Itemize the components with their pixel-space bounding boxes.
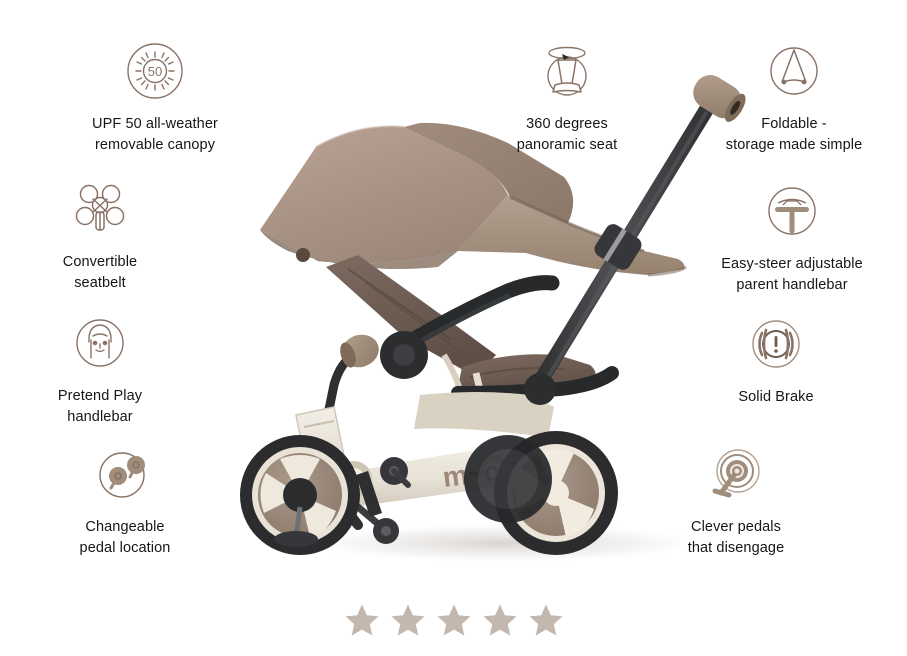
feature-solid-brake: Solid Brake bbox=[676, 313, 876, 408]
feature-label: Clever pedals that disengage bbox=[636, 517, 836, 558]
folding-frame-icon bbox=[763, 40, 825, 102]
front-wheel bbox=[240, 435, 360, 555]
upf-badge-value: 50 bbox=[148, 64, 162, 79]
feature-upf-canopy: 50 UPF 50 all-weather removable canopy bbox=[55, 40, 255, 155]
feature-label: Easy-steer adjustable parent handlebar bbox=[692, 254, 892, 295]
feature-changeable-pedal-location: Changeable pedal location bbox=[25, 443, 225, 558]
feature-label: Foldable - storage made simple bbox=[694, 114, 894, 155]
feature-convertible-seatbelt: Convertible seatbelt bbox=[0, 178, 200, 293]
feature-label: 360 degrees panoramic seat bbox=[467, 114, 667, 155]
feature-label: UPF 50 all-weather removable canopy bbox=[55, 114, 255, 155]
star-icon bbox=[482, 602, 518, 638]
rotating-seat-icon bbox=[536, 40, 598, 102]
star-icon bbox=[528, 602, 564, 638]
feature-foldable-storage: Foldable - storage made simple bbox=[694, 40, 894, 155]
sun-upf50-icon: 50 bbox=[124, 40, 186, 102]
star-icon bbox=[344, 602, 380, 638]
feature-easy-steer-handlebar: Easy-steer adjustable parent handlebar bbox=[692, 180, 892, 295]
feature-label: Solid Brake bbox=[676, 387, 876, 408]
rear-wheel-far bbox=[464, 435, 552, 523]
child-face-icon bbox=[69, 312, 131, 374]
feature-panoramic-seat: 360 degrees panoramic seat bbox=[467, 40, 667, 155]
feature-label: Changeable pedal location bbox=[25, 517, 225, 558]
feature-label: Pretend Play handlebar bbox=[0, 386, 200, 427]
two-pedals-icon bbox=[94, 443, 156, 505]
t-handlebar-icon bbox=[761, 180, 823, 242]
brake-warning-icon bbox=[745, 313, 807, 375]
star-icon bbox=[390, 602, 426, 638]
harness-seatbelt-icon bbox=[69, 178, 131, 240]
feature-clever-pedals: Clever pedals that disengage bbox=[636, 443, 836, 558]
feature-label: Convertible seatbelt bbox=[0, 252, 200, 293]
product-infographic: m~cro bbox=[0, 0, 907, 656]
pedal-crank-icon bbox=[705, 443, 767, 505]
star-rating bbox=[0, 602, 907, 638]
star-icon bbox=[436, 602, 472, 638]
feature-pretend-play-handlebar: Pretend Play handlebar bbox=[0, 312, 200, 427]
